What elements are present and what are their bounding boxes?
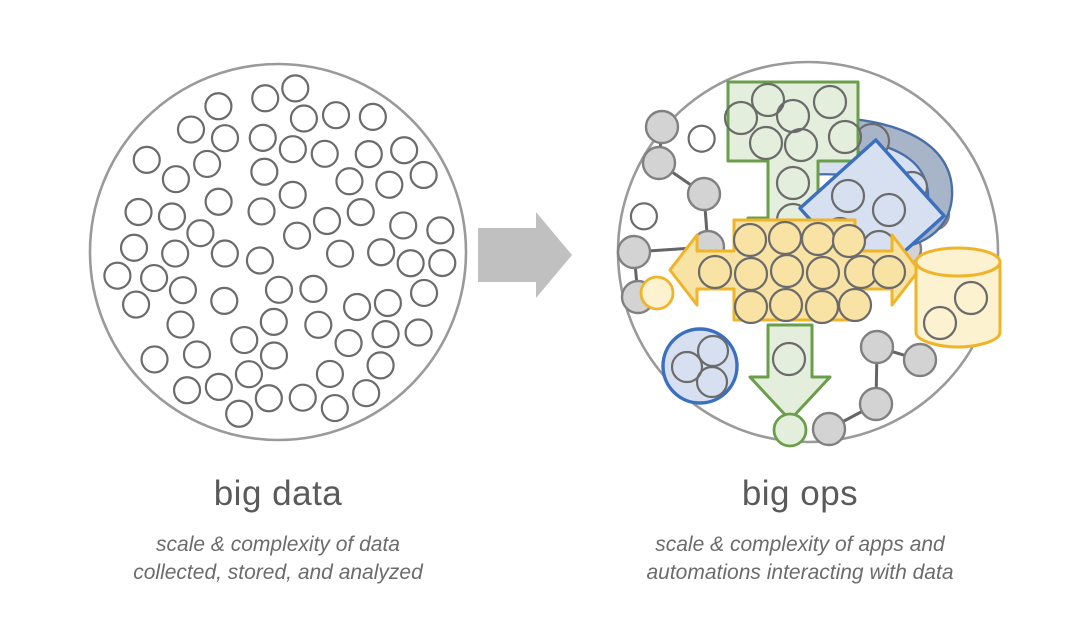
data-dot: [390, 212, 416, 238]
yellow-database-cylinder: [916, 248, 1000, 347]
data-dot: [300, 276, 326, 302]
big-data-subtitle-line-1: scale & complexity of data: [156, 533, 400, 556]
blue-circle-cluster: [663, 329, 737, 403]
data-dot: [411, 162, 437, 188]
data-dot: [123, 292, 149, 318]
green-output-dot: [774, 414, 806, 446]
data-dot: [134, 147, 160, 173]
data-dot: [290, 385, 316, 411]
data-dot: [411, 280, 437, 306]
data-dot: [291, 106, 317, 132]
data-dot: [162, 241, 188, 267]
data-dot: [323, 102, 349, 128]
data-dot: [247, 247, 273, 273]
data-dot: [375, 290, 401, 316]
data-dot: [312, 141, 338, 167]
transition-arrow: [478, 212, 572, 298]
data-dot: [261, 342, 287, 368]
data-dot: [322, 395, 348, 421]
data-dot: [406, 320, 432, 346]
caption-big-data: big data scale & complexity of data coll…: [133, 474, 424, 584]
automation-node: [904, 344, 936, 376]
data-dot: [280, 182, 306, 208]
data-dot: [187, 220, 213, 246]
diagram-canvas: big data scale & complexity of data coll…: [0, 0, 1080, 633]
automation-node: [643, 147, 675, 179]
data-dot: [373, 321, 399, 347]
automation-node: [813, 413, 845, 445]
big-data-subtitle-line-2: collected, stored, and analyzed: [133, 561, 424, 584]
data-dot: [336, 168, 362, 194]
data-dot: [249, 198, 275, 224]
data-dot: [194, 151, 220, 177]
panel-big-data: [90, 64, 466, 440]
data-dot: [168, 312, 194, 338]
data-dot: [250, 125, 276, 151]
data-dot: [336, 330, 362, 356]
data-dot: [317, 361, 343, 387]
automation-node: [860, 388, 892, 420]
panel-big-ops: [618, 62, 1000, 446]
data-dot: [163, 166, 189, 192]
data-dot: [256, 385, 282, 411]
data-dot: [261, 309, 287, 335]
data-dot: [184, 341, 210, 367]
automation-node: [861, 331, 893, 363]
data-dot: [427, 217, 453, 243]
big-ops-subtitle-line-1: scale & complexity of apps and: [655, 533, 946, 556]
data-dot: [205, 93, 231, 119]
data-dot: [280, 136, 306, 162]
data-dot: [266, 277, 292, 303]
data-dot: [348, 199, 374, 225]
big-data-vs-big-ops-diagram: big data scale & complexity of data coll…: [0, 0, 1080, 633]
data-dot: [212, 241, 238, 267]
data-dot: [141, 265, 167, 291]
data-dot: [231, 327, 257, 353]
data-dot: [391, 137, 417, 163]
data-dot: [368, 239, 394, 265]
big-data-title: big data: [214, 474, 343, 513]
data-dot: [356, 141, 382, 167]
data-dot: [305, 312, 331, 338]
data-dot: [398, 250, 424, 276]
automation-node: [618, 236, 650, 268]
data-dot: [159, 203, 185, 229]
data-dot: [226, 401, 252, 427]
data-dot: [170, 277, 196, 303]
big-ops-subtitle-line-2: automations interacting with data: [646, 561, 953, 584]
data-dot: [282, 75, 308, 101]
data-dot: [344, 294, 370, 320]
caption-big-ops: big ops scale & complexity of apps and a…: [646, 474, 953, 584]
data-dot: [121, 235, 147, 261]
data-dot: [206, 374, 232, 400]
data-dot: [429, 250, 455, 276]
data-dot: [284, 223, 310, 249]
data-dot: [178, 117, 204, 143]
data-dot: [353, 380, 379, 406]
data-dot: [206, 189, 232, 215]
data-dot: [251, 159, 277, 185]
data-dot: [314, 208, 340, 234]
data-dot: [252, 85, 278, 111]
data-dot: [368, 352, 394, 378]
data-dot: [689, 126, 715, 152]
data-dot: [211, 288, 237, 314]
yellow-output-dot: [641, 277, 673, 309]
automation-node: [646, 111, 678, 143]
data-dot: [104, 263, 130, 289]
data-dot: [236, 361, 262, 387]
data-dot: [174, 377, 200, 403]
data-dot: [327, 241, 353, 267]
automation-node: [688, 178, 720, 210]
data-dot: [631, 203, 657, 229]
data-dot: [376, 172, 402, 198]
data-dot: [126, 199, 152, 225]
data-dot: [212, 125, 238, 151]
big-ops-title: big ops: [742, 474, 858, 513]
data-dot: [142, 346, 168, 372]
data-dot: [360, 104, 386, 130]
